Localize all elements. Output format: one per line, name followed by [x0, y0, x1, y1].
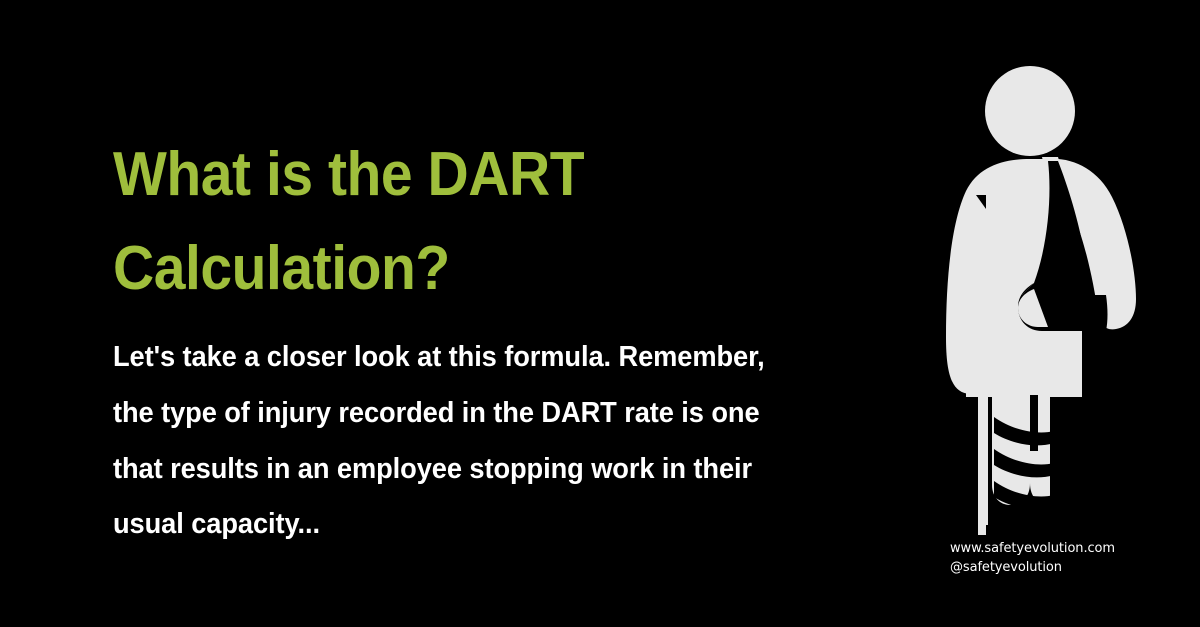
footer-website[interactable]: www.safetyevolution.com [950, 540, 1115, 559]
illustration-container [930, 45, 1190, 545]
crutch-shaft [978, 195, 986, 535]
body-paragraph: Let's take a closer look at this formula… [113, 316, 856, 553]
injured-person-icon [930, 45, 1190, 545]
page-title: What is the DART Calculation? [113, 128, 840, 316]
slide-canvas: What is the DART Calculation? Let's take… [0, 0, 1200, 627]
figure-head [985, 66, 1075, 156]
text-block: What is the DART Calculation? Let's take… [113, 128, 903, 553]
footer-handle[interactable]: @safetyevolution [950, 559, 1115, 578]
figure-leg-gap [1030, 395, 1038, 451]
footer: www.safetyevolution.com @safetyevolution [950, 540, 1115, 578]
